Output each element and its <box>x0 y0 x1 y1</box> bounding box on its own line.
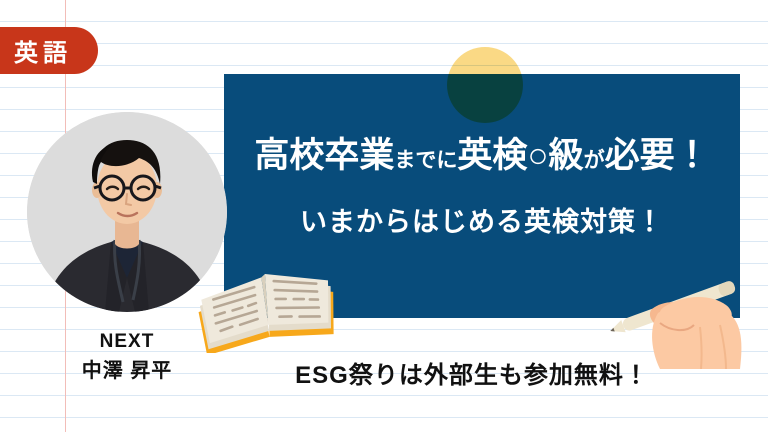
title-block: 高校卒業までに英検○級が必要！ いまからはじめる英検対策！ <box>224 136 740 239</box>
headline-part-3: 必要！ <box>605 136 710 175</box>
headline-kana-1: までに <box>394 149 457 172</box>
subject-badge-label: 英語 <box>14 33 72 68</box>
subject-badge: 英語 <box>0 27 98 74</box>
open-book-icon <box>190 253 342 353</box>
hand-holding-pencil-icon <box>604 253 768 369</box>
headline-part-2: 英検○級 <box>457 136 583 175</box>
headline-kana-2: が <box>584 149 605 172</box>
slide-canvas: 英語 高校卒業までに英検○級が必要！ いまからはじめる英検対策！ <box>0 0 768 432</box>
subheadline: いまからはじめる英検対策！ <box>224 200 740 239</box>
bottom-caption: ESG祭りは外部生も参加無料！ <box>252 355 692 390</box>
presenter-name: 中澤 昇平 <box>27 359 227 384</box>
headline-part-1: 高校卒業 <box>254 136 394 175</box>
headline: 高校卒業までに英検○級が必要！ <box>224 136 740 176</box>
gold-accent-circle <box>447 47 523 123</box>
